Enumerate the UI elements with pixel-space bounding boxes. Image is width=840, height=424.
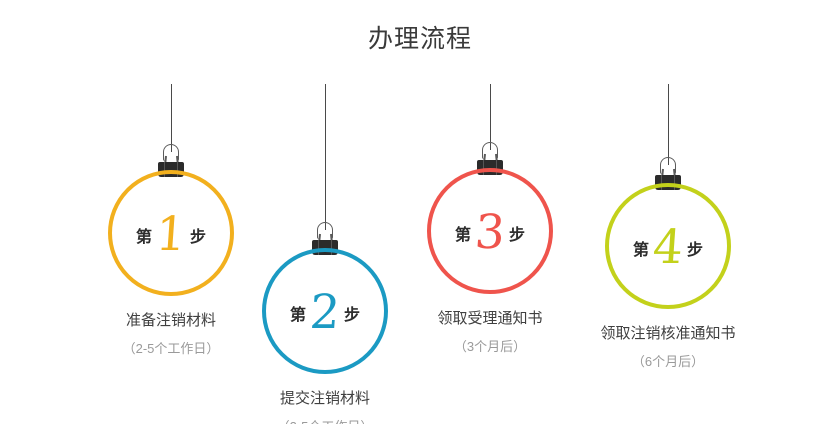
step-number: 3 [473, 209, 506, 256]
step-ring-3[interactable]: 第 3 步 [427, 168, 553, 294]
process-step-4[interactable]: 第 4 步 领取注销核准通知书 （6个月后） [538, 0, 798, 424]
step-ring-label: 第 3 步 [431, 172, 549, 290]
hanging-string-icon [171, 84, 172, 152]
step-suffix-label: 步 [687, 243, 703, 259]
step-caption-block: 领取注销核准通知书 （6个月后） [538, 323, 798, 373]
step-number: 2 [308, 289, 341, 336]
hanging-string-icon [490, 84, 491, 150]
step-suffix-label: 步 [344, 308, 360, 324]
step-number: 4 [651, 224, 684, 271]
step-prefix-label: 第 [290, 308, 306, 324]
step-ring-4[interactable]: 第 4 步 [605, 183, 731, 309]
step-prefix-label: 第 [136, 230, 152, 246]
step-prefix-label: 第 [633, 243, 649, 259]
hanging-string-icon [325, 84, 326, 230]
step-number: 1 [154, 211, 187, 258]
step-ring-label: 第 4 步 [609, 187, 727, 305]
hanging-string-icon [668, 84, 669, 165]
step-suffix-label: 步 [509, 228, 525, 244]
process-flow-infographic: 办理流程 第 1 步 准备注销材料 （2-5个工作日） [0, 0, 840, 424]
step-sub-caption: （6个月后） [538, 351, 798, 373]
step-prefix-label: 第 [455, 228, 471, 244]
step-caption: 领取注销核准通知书 [538, 323, 798, 345]
